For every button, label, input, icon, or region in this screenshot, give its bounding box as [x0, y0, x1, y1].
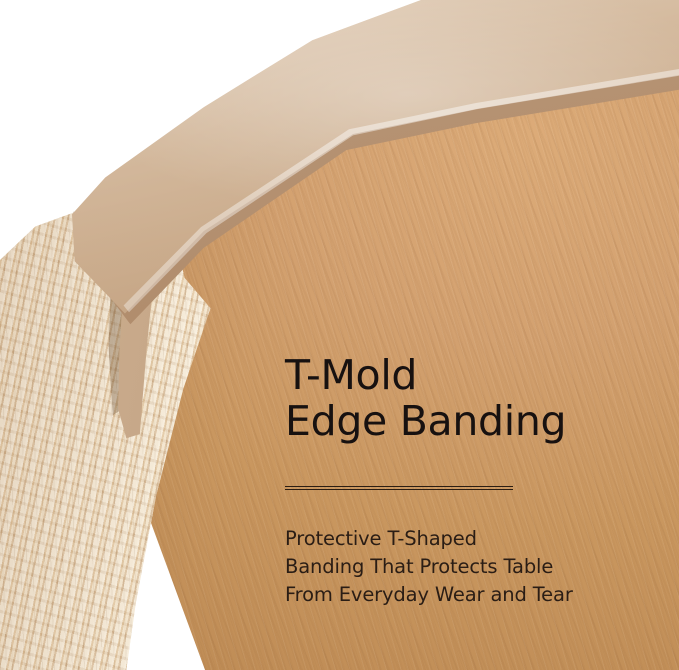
product-detail-image: T-Mold Edge Banding Protective T-Shaped … — [0, 0, 679, 670]
headline: T-Mold Edge Banding — [285, 352, 657, 445]
caption-block: T-Mold Edge Banding Protective T-Shaped … — [285, 352, 657, 628]
divider-rule — [285, 486, 513, 490]
subheadline: Protective T-Shaped Banding That Protect… — [285, 525, 657, 609]
